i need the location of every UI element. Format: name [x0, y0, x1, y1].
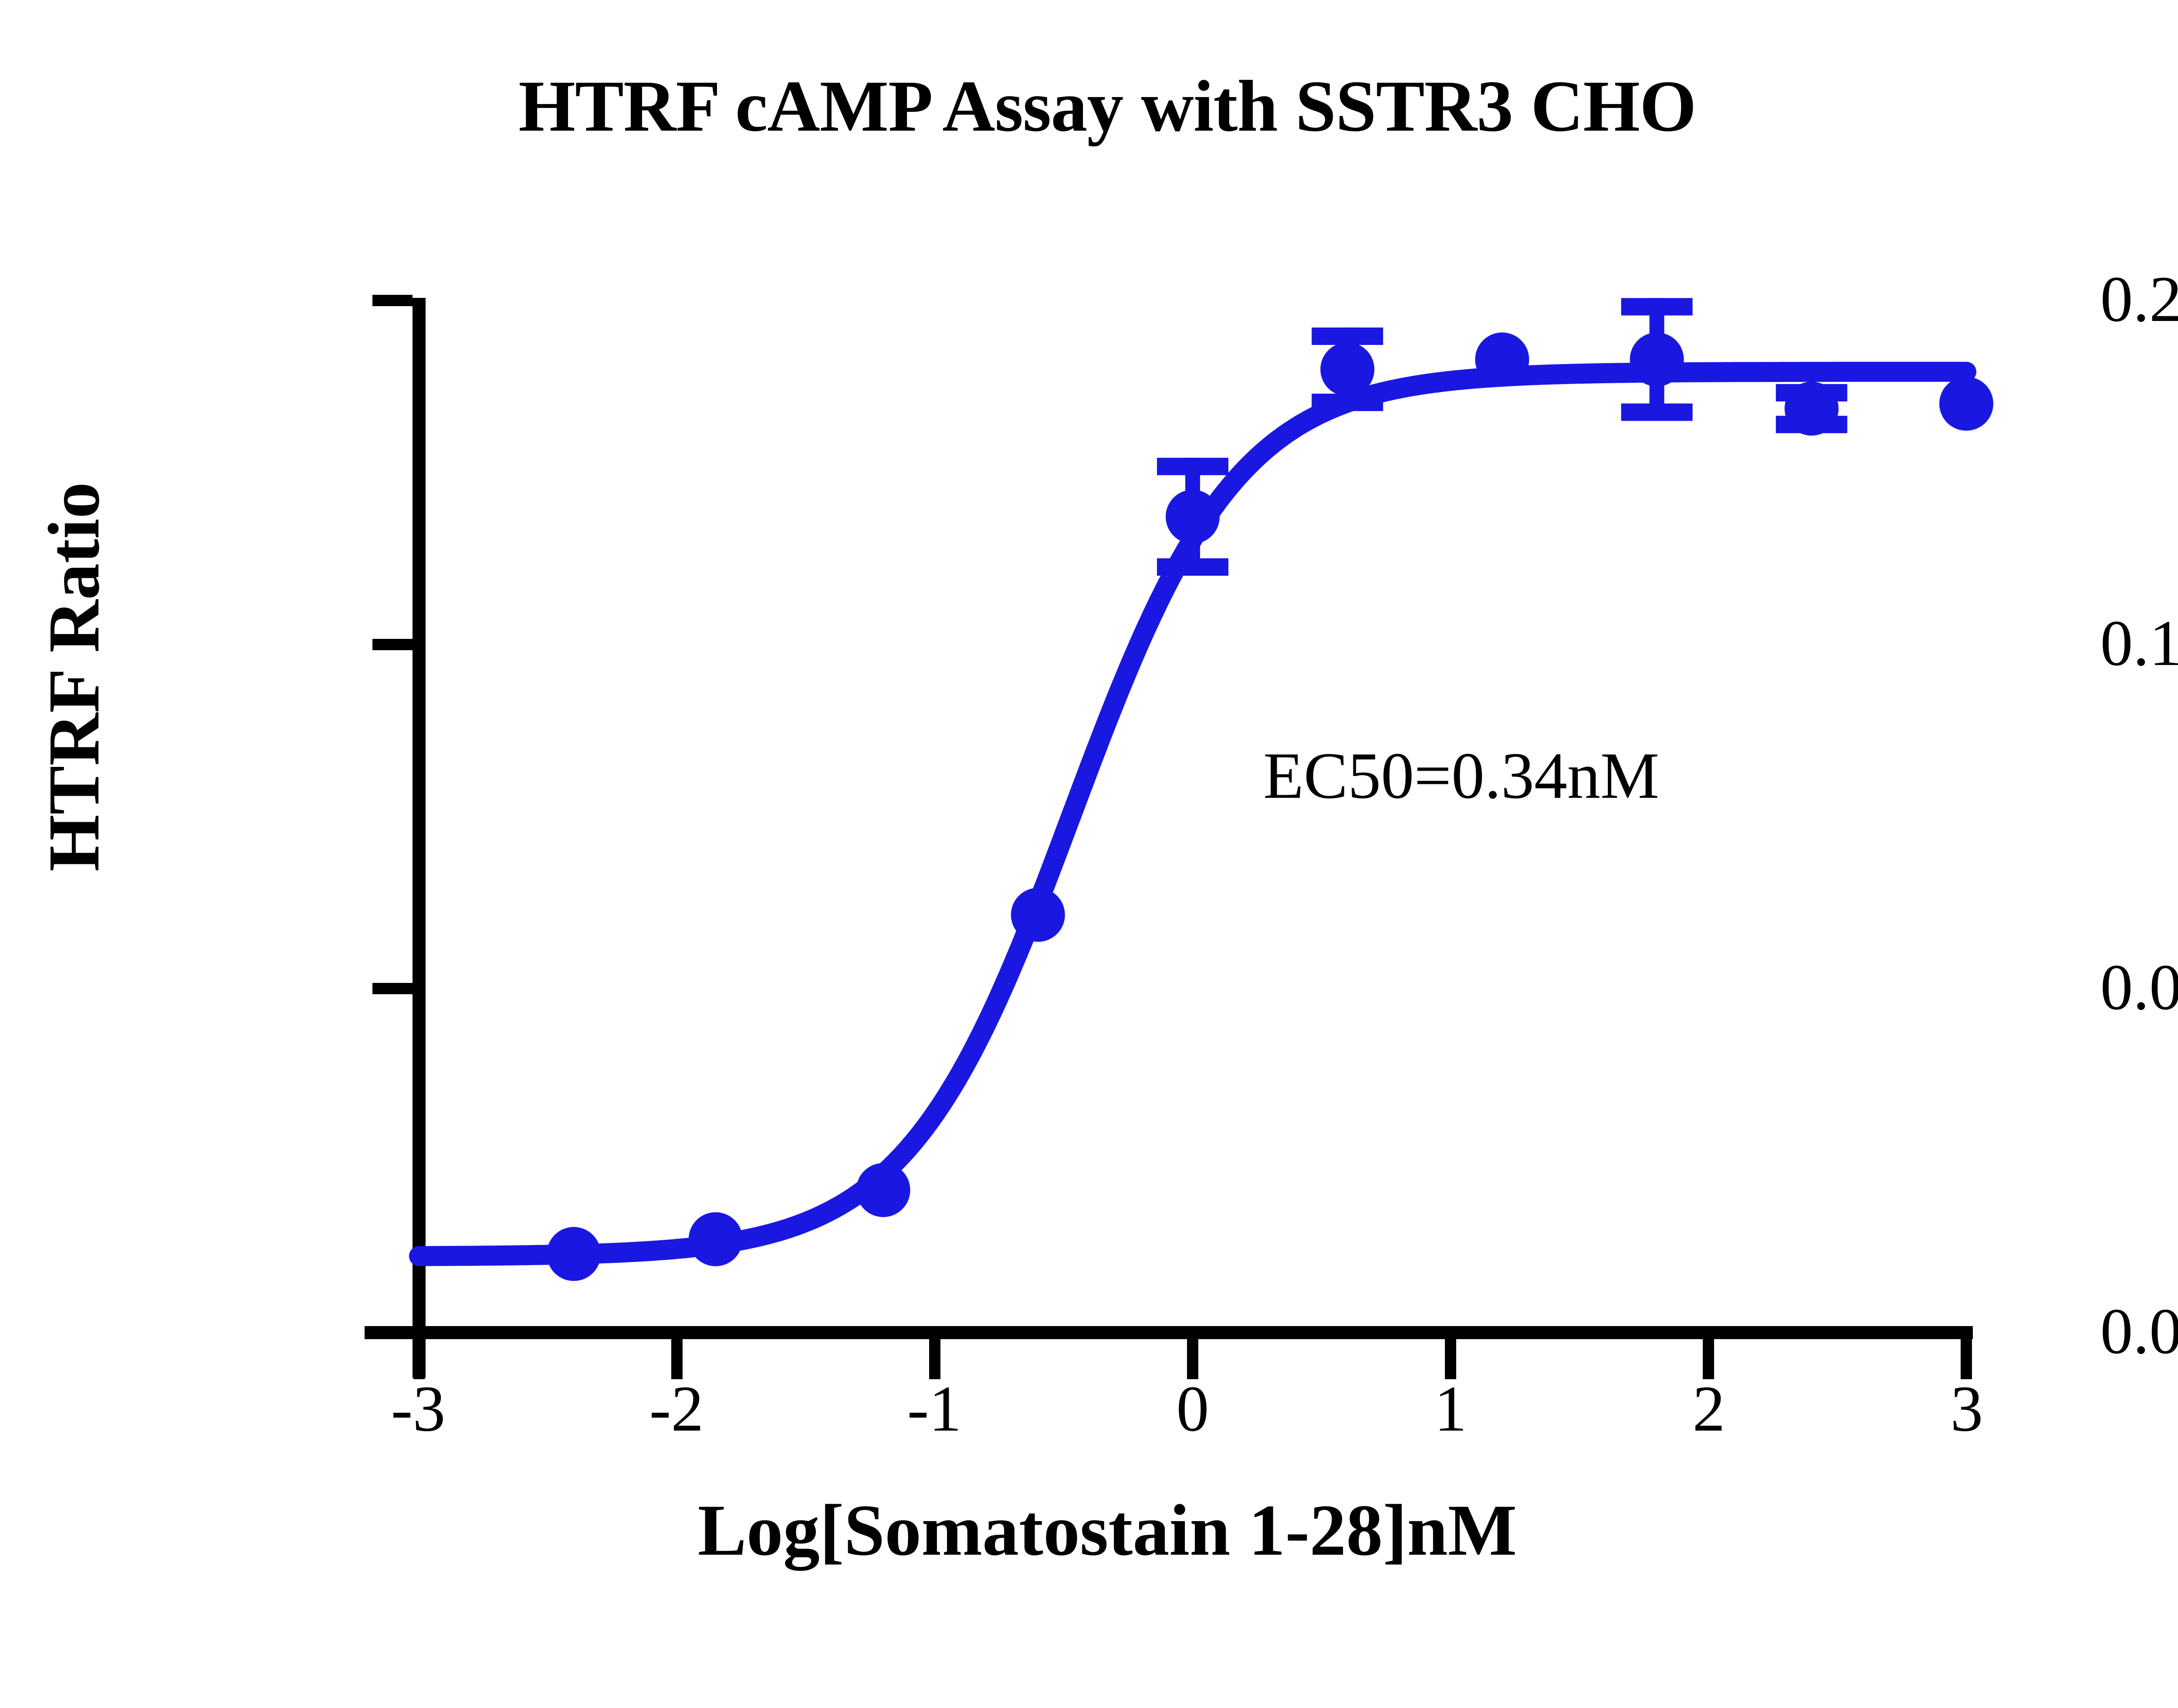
- y-axis-line: [413, 298, 426, 1378]
- data-point: [1939, 377, 1993, 431]
- x-tick-4: [1445, 1339, 1456, 1379]
- y-tick-3: [372, 1327, 413, 1338]
- data-point: [547, 1227, 601, 1281]
- x-tick-1: [671, 1339, 683, 1379]
- x-tick-2: [929, 1339, 940, 1379]
- x-tick-3: [1187, 1339, 1198, 1379]
- data-point: [1630, 332, 1684, 386]
- data-point: [1785, 381, 1839, 435]
- x-tick-5: [1703, 1339, 1714, 1379]
- y-tick-0: [372, 295, 413, 306]
- data-point: [856, 1163, 910, 1217]
- y-tick-1: [372, 639, 413, 650]
- data-point: [1320, 342, 1374, 396]
- x-tick-0: [413, 1339, 425, 1379]
- chart-root: HTRF cAMP Assay with SSTR3 CHO HTRF Rati…: [0, 0, 2178, 1708]
- x-tick-6: [1961, 1339, 1972, 1379]
- y-tick-2: [372, 983, 413, 994]
- plot-area: [0, 0, 2178, 1708]
- axes-layer: [365, 295, 1973, 1379]
- data-points-layer: [547, 332, 1993, 1281]
- data-point: [1475, 332, 1529, 386]
- x-axis-line: [365, 1326, 1973, 1339]
- data-point: [689, 1212, 743, 1266]
- data-point: [1011, 888, 1065, 942]
- data-point: [1166, 490, 1220, 544]
